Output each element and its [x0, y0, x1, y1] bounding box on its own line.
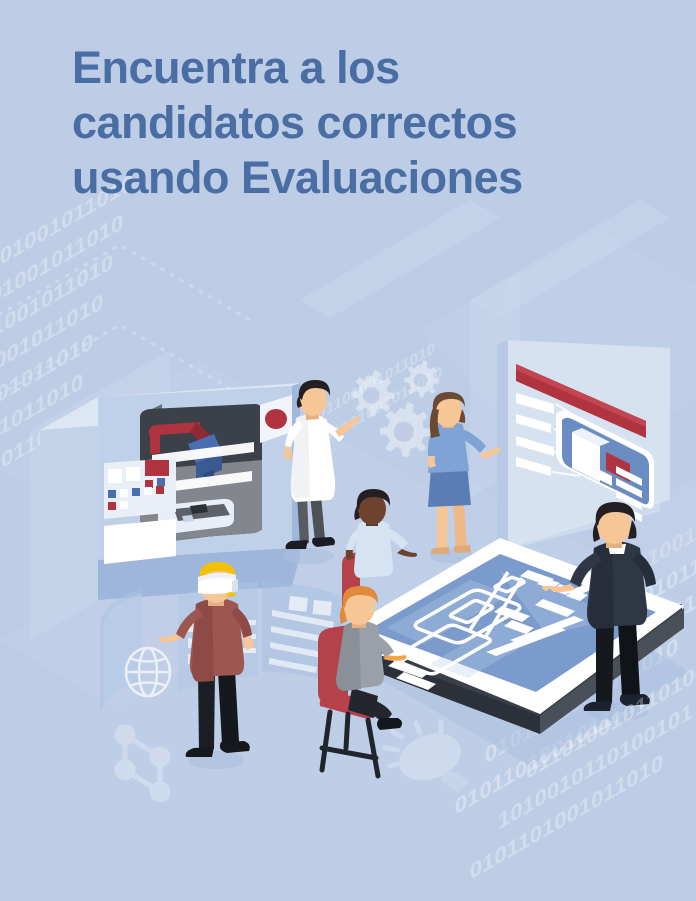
page-title: Encuentra a los candidatos correctos usa…: [72, 40, 652, 205]
binary-digits-pattern-foreground: 0101101001011010 1010010110100101 011010…: [470, 649, 696, 886]
poster-canvas: 0101101001011010: [0, 0, 696, 901]
